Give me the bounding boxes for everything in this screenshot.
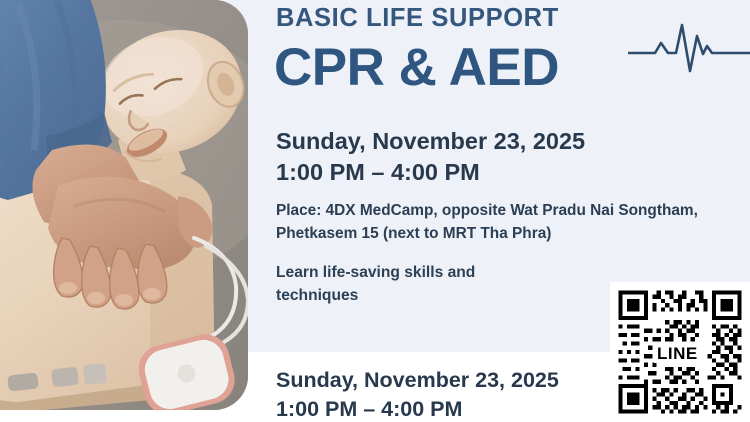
event-tagline: Learn life-saving skills and techniques bbox=[276, 262, 536, 307]
event-datetime-footer: Sunday, November 23, 2025 1:00 PM – 4:00… bbox=[276, 366, 559, 422]
qr-line-label: LINE bbox=[654, 344, 701, 363]
poster-headline: CPR & AED bbox=[274, 41, 559, 94]
heartbeat-ecg-icon bbox=[628, 16, 750, 76]
footer-date-line: Sunday, November 23, 2025 bbox=[276, 366, 559, 395]
event-date-line: Sunday, November 23, 2025 bbox=[276, 126, 585, 157]
event-time-line: 1:00 PM – 4:00 PM bbox=[276, 157, 585, 188]
poster-kicker: BASIC LIFE SUPPORT bbox=[276, 6, 559, 32]
cpr-training-photo bbox=[0, 0, 248, 410]
event-location: Place: 4DX MedCamp, opposite Wat Pradu N… bbox=[276, 200, 728, 246]
poster-canvas: BASIC LIFE SUPPORT CPR & AED Sunday, Nov… bbox=[0, 0, 750, 422]
event-datetime-primary: Sunday, November 23, 2025 1:00 PM – 4:00… bbox=[276, 126, 585, 187]
footer-time-line: 1:00 PM – 4:00 PM bbox=[276, 395, 559, 422]
